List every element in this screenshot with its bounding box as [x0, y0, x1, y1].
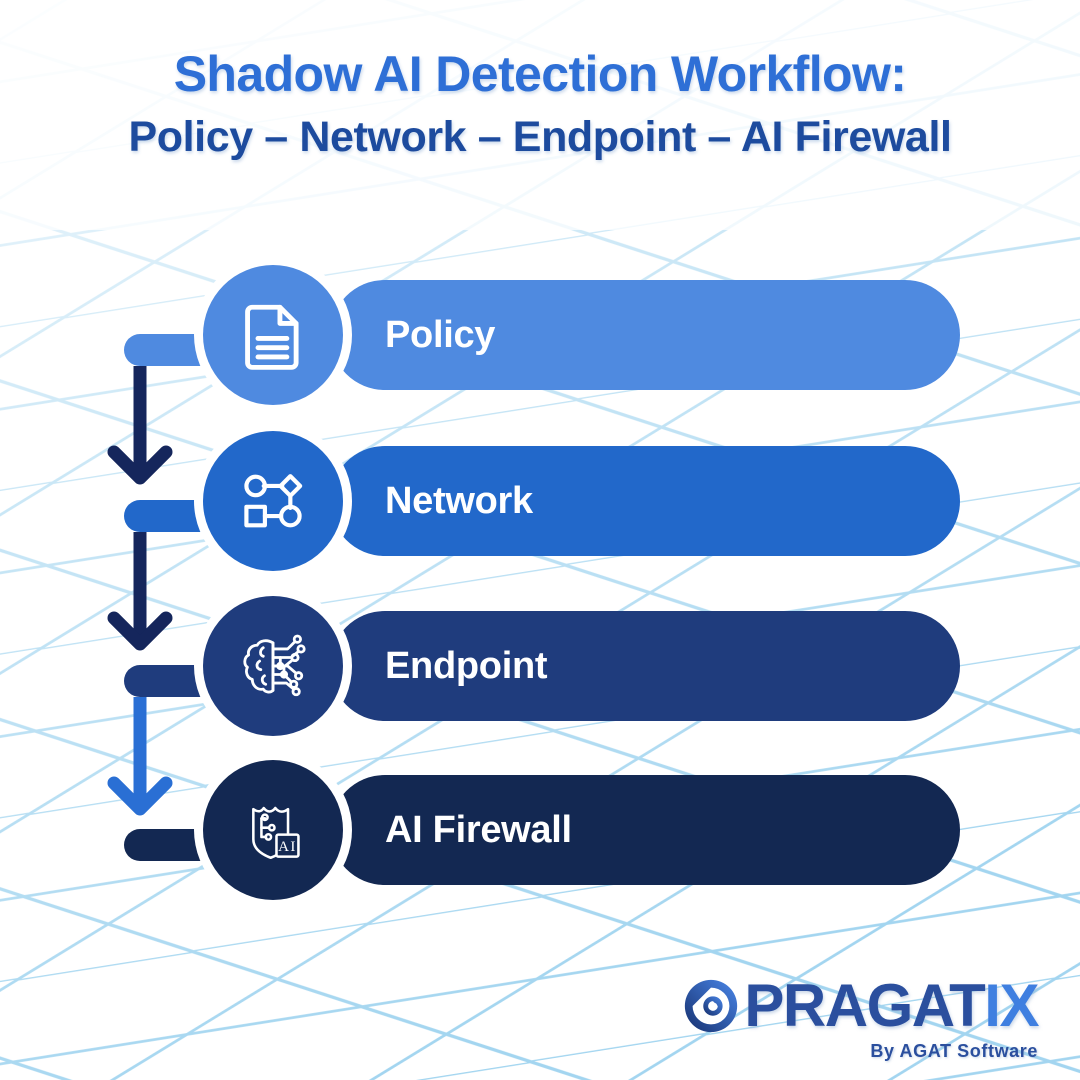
ai-shield-icon: AI: [236, 793, 310, 867]
step-label-policy: Policy: [385, 314, 495, 357]
step-node-network[interactable]: [203, 431, 343, 571]
workflow-steps: Policy Network: [0, 0, 1080, 1080]
logo-wordmark-accent: IX: [984, 972, 1038, 1039]
logo-tagline: By AGAT Software: [680, 1041, 1038, 1062]
step-node-ai-firewall[interactable]: AI: [203, 760, 343, 900]
step-node-policy[interactable]: [203, 265, 343, 405]
svg-text:AI: AI: [278, 839, 297, 855]
page-subtitle: Policy – Network – Endpoint – AI Firewal…: [0, 115, 1080, 161]
heading-block: Shadow AI Detection Workflow: Policy – N…: [0, 48, 1080, 161]
step-label-endpoint: Endpoint: [385, 645, 547, 688]
network-nodes-icon: [236, 464, 310, 538]
step-bar-endpoint[interactable]: Endpoint: [330, 611, 960, 721]
step-bar-network[interactable]: Network: [330, 446, 960, 556]
step-label-network: Network: [385, 480, 533, 523]
brand-logo: PRAGATIX By AGAT Software: [680, 975, 1038, 1062]
step-node-endpoint[interactable]: [203, 596, 343, 736]
step-bar-ai-firewall[interactable]: AI Firewall: [330, 775, 960, 885]
logo-wordmark-dark: PRAGAT: [744, 972, 984, 1039]
document-icon: [236, 298, 310, 372]
page-title: Shadow AI Detection Workflow:: [0, 48, 1080, 101]
step-bar-policy[interactable]: Policy: [330, 280, 960, 390]
infographic-canvas: Shadow AI Detection Workflow: Policy – N…: [0, 0, 1080, 1080]
logo-top-row: PRAGATIX: [680, 975, 1038, 1037]
pragatix-spiral-icon: [680, 975, 742, 1037]
step-label-ai-firewall: AI Firewall: [385, 809, 572, 852]
logo-wordmark: PRAGATIX: [744, 976, 1038, 1036]
ai-brain-circuit-icon: [234, 627, 312, 705]
